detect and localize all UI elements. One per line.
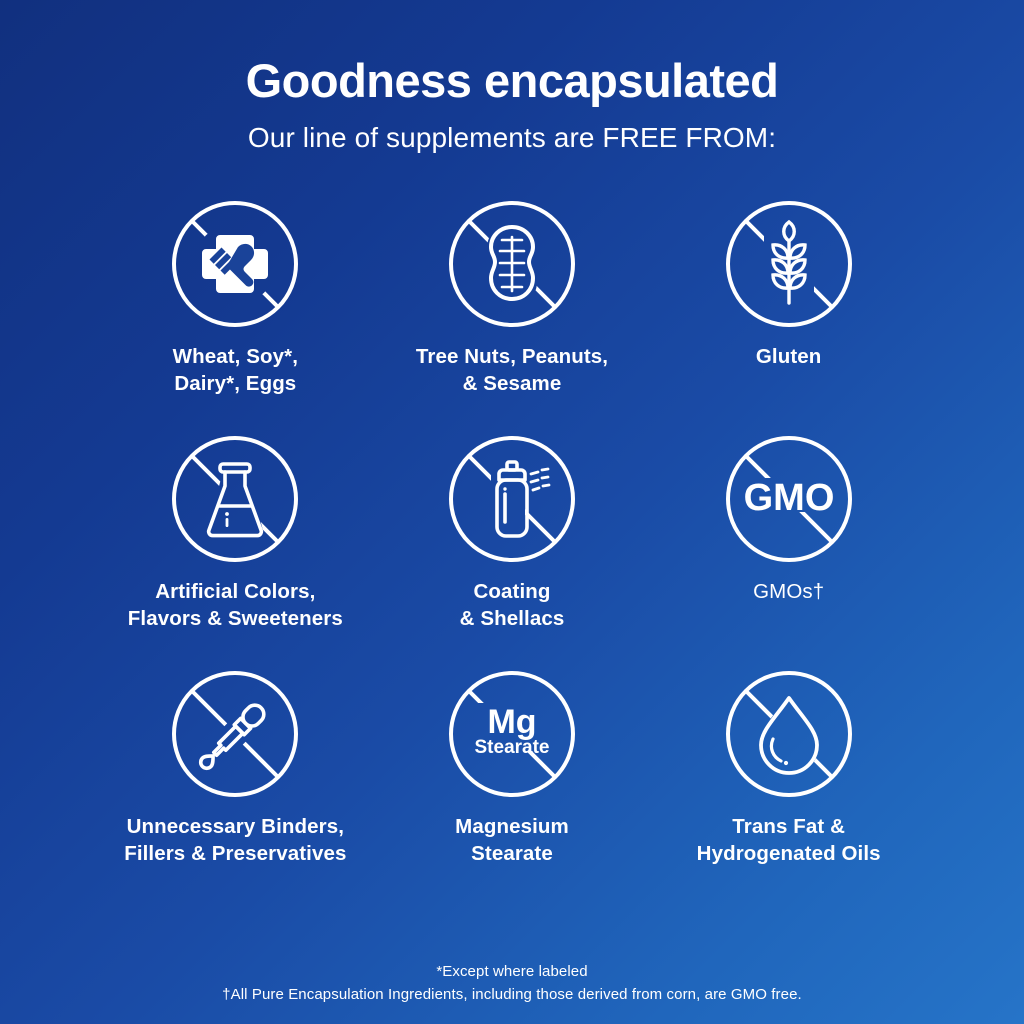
spray-can-icon bbox=[447, 434, 577, 564]
gmo-icon-text: GMO bbox=[743, 477, 834, 519]
free-from-grid: Wheat, Soy*, Dairy*, Eggs bbox=[97, 199, 927, 904]
dropper-icon bbox=[170, 669, 300, 799]
flask-icon bbox=[170, 434, 300, 564]
oil-droplet-icon bbox=[724, 669, 854, 799]
infographic-page: Goodness encapsulated Our line of supple… bbox=[0, 0, 1024, 1024]
free-from-item-magnesium-stearate: Mg Stearate Magnesium Stearate bbox=[374, 669, 651, 904]
free-from-item-tree-nuts-peanuts-sesame: Tree Nuts, Peanuts, & Sesame bbox=[374, 199, 651, 434]
page-subtitle: Our line of supplements are FREE FROM: bbox=[248, 122, 776, 154]
free-from-item-wheat-soy-dairy-eggs: Wheat, Soy*, Dairy*, Eggs bbox=[97, 199, 374, 434]
free-from-item-label: Coating & Shellacs bbox=[460, 578, 565, 632]
free-from-item-label: Artificial Colors, Flavors & Sweeteners bbox=[128, 578, 343, 632]
free-from-item-coating-shellacs: Coating & Shellacs bbox=[374, 434, 651, 669]
free-from-item-label: Tree Nuts, Peanuts, & Sesame bbox=[416, 343, 608, 397]
free-from-item-label: Gluten bbox=[756, 343, 822, 370]
peanut-icon bbox=[447, 199, 577, 329]
free-from-item-label: Magnesium Stearate bbox=[455, 813, 569, 867]
mg-stearate-text-icon: Mg Stearate bbox=[447, 669, 577, 799]
free-from-item-trans-fat: Trans Fat & Hydrogenated Oils bbox=[650, 669, 927, 904]
free-from-item-artificial-colors: Artificial Colors, Flavors & Sweeteners bbox=[97, 434, 374, 669]
allergen-cross-fork-icon bbox=[170, 199, 300, 329]
stearate-icon-text: Stearate bbox=[474, 737, 549, 758]
free-from-item-binders-fillers: Unnecessary Binders, Fillers & Preservat… bbox=[97, 669, 374, 904]
mg-icon-text: Mg bbox=[487, 703, 536, 741]
wheat-stalk-icon bbox=[724, 199, 854, 329]
gmo-text-icon: GMO bbox=[724, 434, 854, 564]
free-from-item-label: Unnecessary Binders, Fillers & Preservat… bbox=[124, 813, 346, 867]
footnotes: *Except where labeled †All Pure Encapsul… bbox=[0, 960, 1024, 1007]
page-title: Goodness encapsulated bbox=[246, 56, 779, 105]
free-from-item-label: Wheat, Soy*, Dairy*, Eggs bbox=[173, 343, 298, 397]
free-from-item-label: GMOs† bbox=[753, 578, 824, 605]
free-from-item-gmos: GMO GMOs† bbox=[650, 434, 927, 669]
free-from-item-label: Trans Fat & Hydrogenated Oils bbox=[697, 813, 881, 867]
footnote-asterisk: *Except where labeled bbox=[0, 960, 1024, 983]
free-from-item-gluten: Gluten bbox=[650, 199, 927, 434]
footnote-dagger: †All Pure Encapsulation Ingredients, inc… bbox=[0, 983, 1024, 1006]
